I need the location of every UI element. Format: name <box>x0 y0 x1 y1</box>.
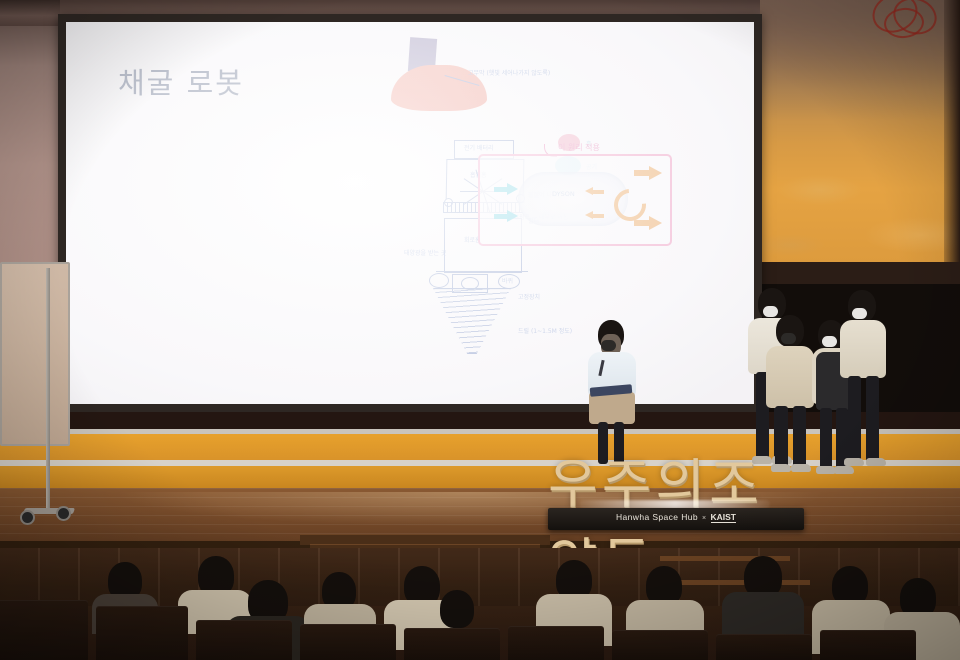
inner-arrow-tail-bottom <box>593 214 604 218</box>
inflow-arrow-tail-top <box>494 187 507 192</box>
audience-head <box>440 590 474 628</box>
face-mask <box>781 333 796 344</box>
shoe-left <box>844 458 864 466</box>
leg-left <box>848 376 861 462</box>
outflow-arrow-top <box>649 166 662 180</box>
leg-left <box>820 408 832 470</box>
annotation-wheel: 바퀴 <box>502 278 513 286</box>
sponsor-hanwha: Hanwha Space Hub <box>616 512 698 522</box>
shoe-right <box>834 466 854 474</box>
annotation-solar: 태양광을 받는 곳 <box>404 250 446 258</box>
shoe-right <box>866 458 886 466</box>
annotation-battery: 전기 배터리 <box>464 145 494 153</box>
seat-back <box>96 606 188 660</box>
inflow-arrow-top <box>507 183 518 195</box>
face-mask <box>822 336 837 347</box>
inflow-arrow-bottom <box>507 210 518 222</box>
right-lower-wall <box>760 262 960 284</box>
inner-arrow-tail-top <box>593 190 604 194</box>
wall-band-orange-upper <box>0 434 960 460</box>
solar-panel-shape <box>429 273 449 288</box>
inset-airflow-body <box>518 172 628 226</box>
seat-back <box>612 630 708 660</box>
photo-canvas: 채굴 로봇 고무막 (햇빛 세어나가지 않도록) 흙 공기 전기 배터리 흡입홈… <box>0 0 960 660</box>
seat-back <box>300 624 396 660</box>
right-wall-edge <box>944 0 960 262</box>
inflow-arrow-tail-bottom <box>494 214 507 219</box>
inset-caption: 이 원리 적용 <box>558 142 600 153</box>
seat-back <box>196 620 292 660</box>
whiteboard-pole <box>46 268 50 514</box>
sponsor-lockup: Hanwha Space Hub×KAIST <box>548 512 804 522</box>
annotation-drill: 드릴 (1~1.5M 정도) <box>518 328 572 336</box>
annotation-fixer: 고정장치 <box>518 294 540 302</box>
robot-diagram: 고무막 (햇빛 세어나가지 않도록) 흙 공기 전기 배터리 흡입홈 물질이 나… <box>66 22 754 404</box>
whiteboard-caster <box>56 506 71 521</box>
inner-arrow-top <box>585 187 593 195</box>
seat-back <box>0 600 88 660</box>
hoodie <box>766 346 814 408</box>
outflow-arrow-tail-bottom <box>634 220 649 226</box>
hoodie <box>840 320 886 378</box>
face-mask <box>852 308 867 319</box>
skirt <box>589 392 635 424</box>
wall-band-dark <box>0 412 960 429</box>
annotation-membrane: 고무막 (햇빛 세어나가지 않도록) <box>468 70 550 78</box>
face-mask <box>601 340 616 351</box>
seat-back <box>404 628 500 660</box>
leg-right <box>866 376 879 462</box>
shoe-left <box>816 466 836 474</box>
mural-terrain <box>760 150 960 262</box>
inset-center-label: DYSON <box>552 190 575 198</box>
projection-screen: 채굴 로봇 고무막 (햇빛 세어나가지 않도록) 흙 공기 전기 배터리 흡입홈… <box>66 22 754 404</box>
sponsor-kaist: KAIST <box>711 512 737 523</box>
aisle-rail <box>660 580 810 585</box>
seat-back <box>716 634 812 660</box>
outflow-arrow-bottom <box>649 216 662 230</box>
inner-arrow-bottom <box>585 211 593 219</box>
whiteboard-caster <box>20 510 35 525</box>
sponsor-separator: × <box>702 515 707 522</box>
seat-back <box>820 630 916 660</box>
mobile-whiteboard <box>0 262 70 446</box>
axle-shape <box>436 271 528 272</box>
outflow-arrow-tail-top <box>634 170 649 176</box>
drill-bit-outline <box>433 288 511 354</box>
seat-back <box>508 626 604 660</box>
face-mask <box>763 306 778 317</box>
